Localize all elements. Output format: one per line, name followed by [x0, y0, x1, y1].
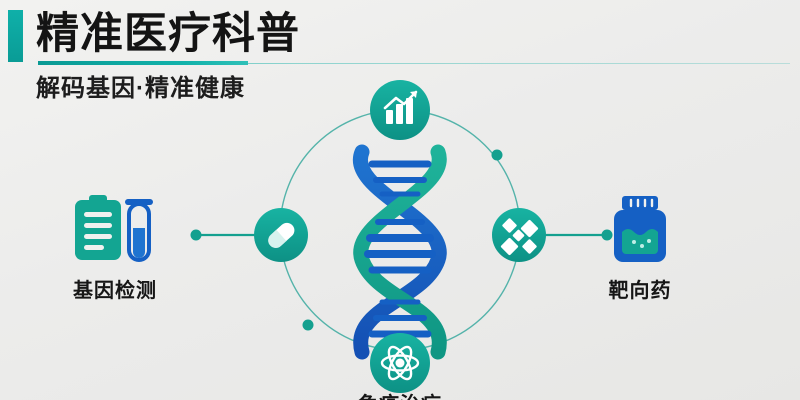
slide-background: 精准医疗科普 解码基因·精准健康 [0, 0, 800, 400]
title-underline [38, 61, 790, 66]
atom-nucleus-icon [396, 359, 405, 368]
side-item-gene-testing[interactable]: 基因检测 [35, 190, 195, 303]
ring-node-top[interactable] [370, 80, 430, 140]
dna-helix-illustration [360, 152, 439, 352]
title-underline-thick [38, 61, 248, 65]
ring-dot-upper-right [492, 150, 503, 161]
ring-node-right[interactable] [492, 208, 546, 262]
header-accent-bar [8, 10, 23, 62]
page-title: 精准医疗科普 [36, 5, 300, 63]
ring-dot-lower-left [303, 320, 314, 331]
side-item-targeted-drug-label: 靶向药 [560, 274, 720, 303]
ring-node-bottom[interactable] [370, 333, 430, 393]
side-item-targeted-drug[interactable]: 靶向药 [560, 190, 720, 303]
clipboard-testtube-icon [35, 190, 195, 270]
orbit-ring [280, 110, 520, 350]
ring-node-bottom-label: 免疫治疗 [320, 388, 480, 400]
medicine-bottle-icon [560, 190, 720, 270]
side-item-gene-testing-label: 基因检测 [35, 274, 195, 303]
ring-node-left[interactable] [254, 208, 308, 262]
